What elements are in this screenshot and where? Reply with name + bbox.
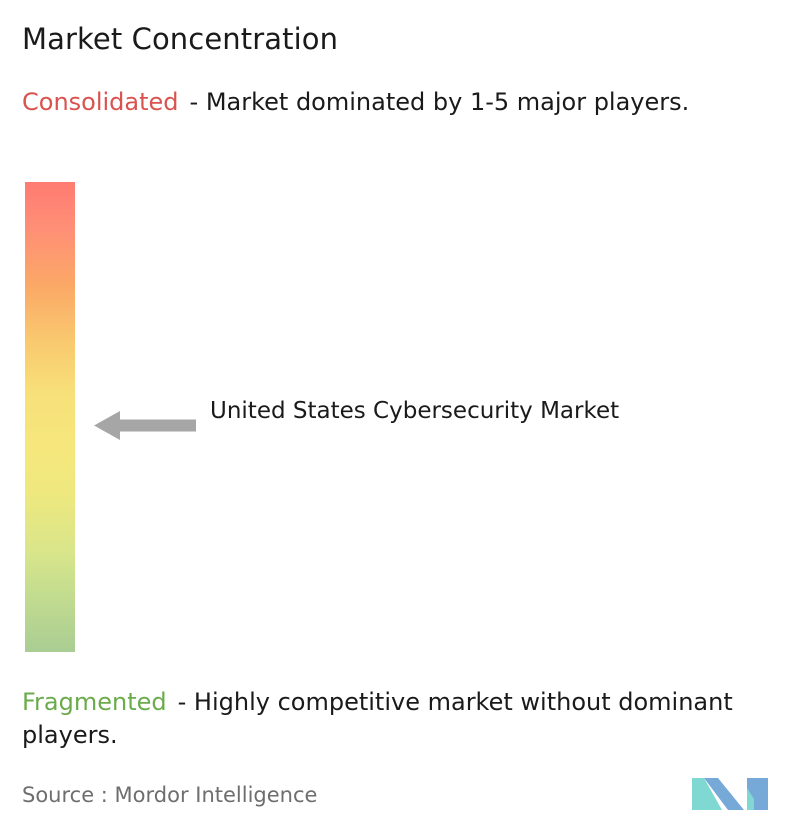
legend-term-consolidated: Consolidated — [22, 88, 179, 116]
mordor-intelligence-logo — [692, 768, 776, 810]
left-arrow-icon — [94, 409, 196, 442]
legend-consolidated: Consolidated- Market dominated by 1-5 ma… — [22, 86, 782, 119]
chart-canvas: Market Concentration Consolidated- Marke… — [0, 0, 796, 834]
legend-description-consolidated: - Market dominated by 1-5 major players. — [190, 88, 690, 116]
concentration-scale-bar — [25, 182, 75, 652]
legend-term-fragmented: Fragmented — [22, 688, 167, 716]
series-label-united-states-cybersecurity-market: United States Cybersecurity Market — [210, 394, 619, 429]
legend-fragmented: Fragmented- Highly competitive market wi… — [22, 686, 794, 752]
source-attribution: Source : Mordor Intelligence — [22, 781, 317, 809]
page-title: Market Concentration — [22, 20, 338, 58]
